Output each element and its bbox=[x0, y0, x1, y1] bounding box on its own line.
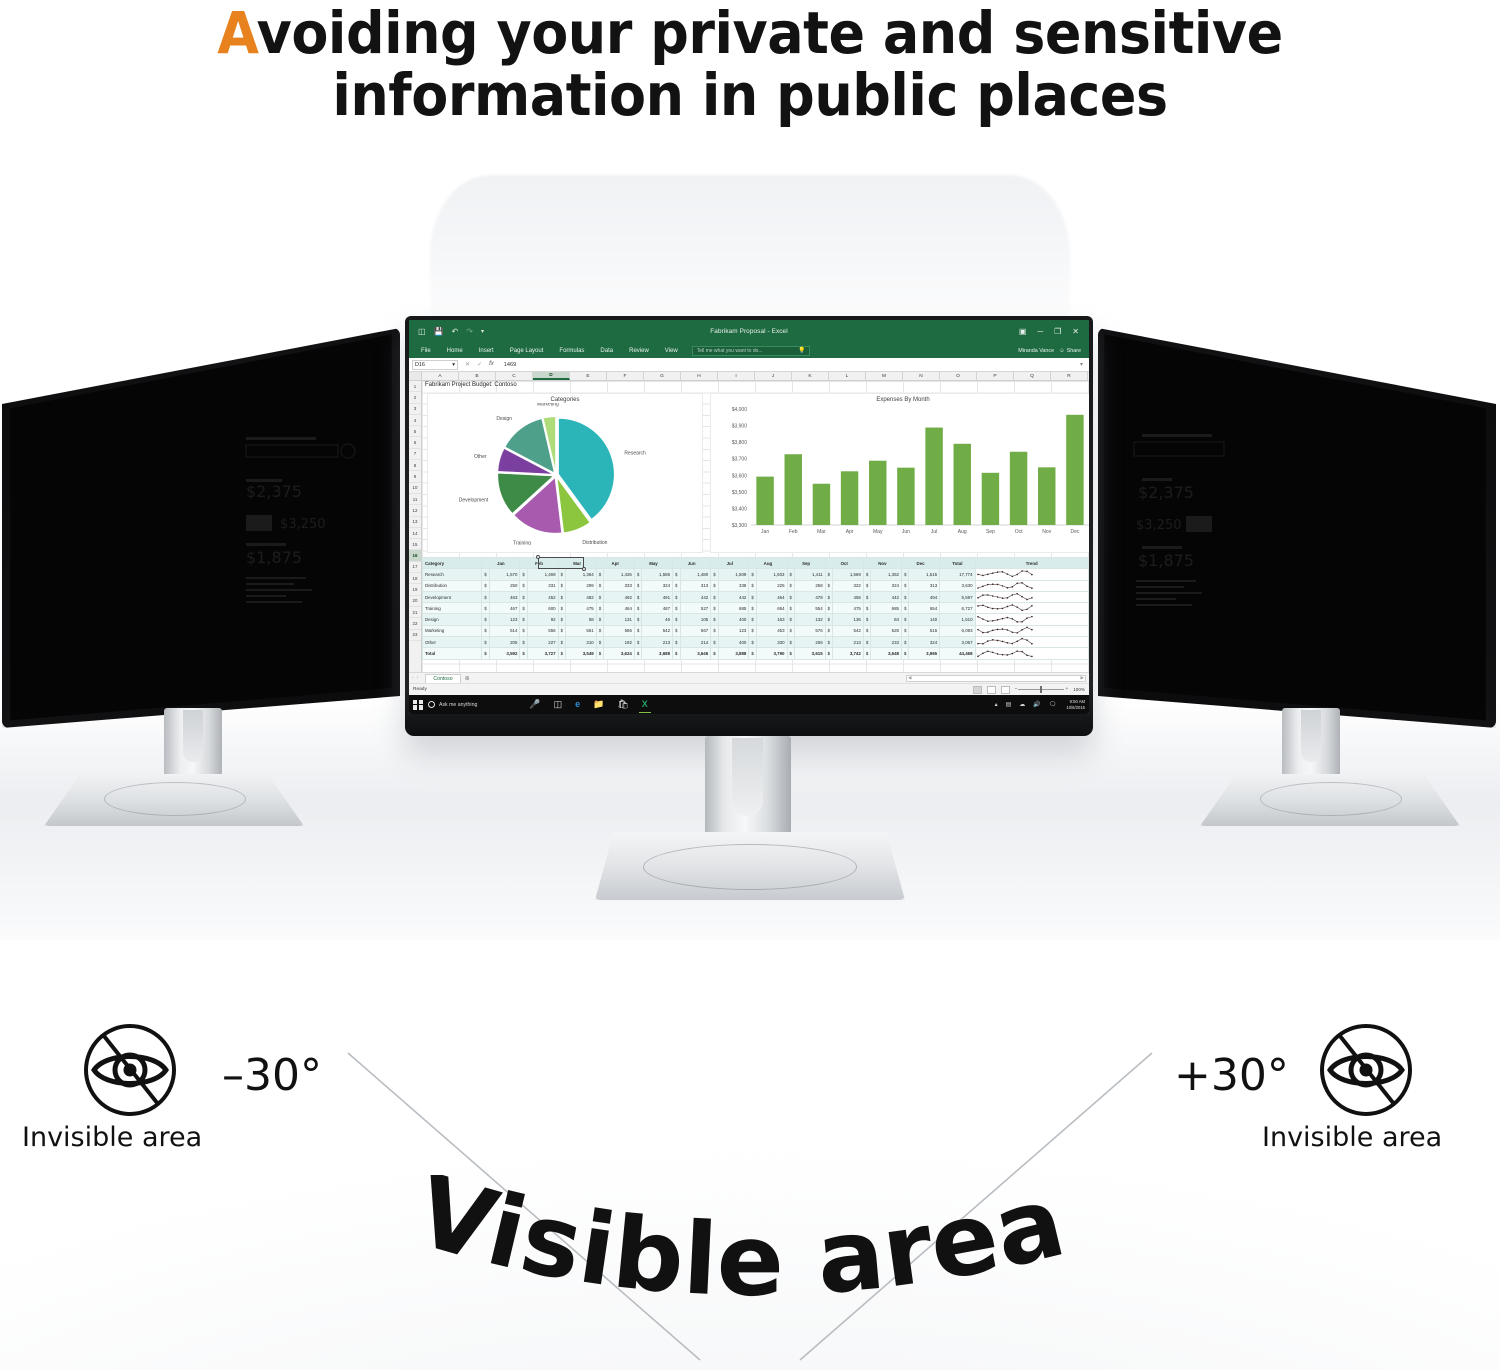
sparkline bbox=[976, 581, 1034, 590]
column-header-g[interactable]: G bbox=[644, 372, 681, 380]
budget-col-dec[interactable]: Dec bbox=[901, 558, 939, 569]
row-header-15[interactable]: 15 bbox=[409, 539, 421, 550]
budget-value-cell: 452 bbox=[527, 591, 558, 602]
sparkline bbox=[976, 592, 1034, 601]
sparkline bbox=[976, 603, 1034, 612]
bar-sep[interactable] bbox=[982, 473, 999, 525]
budget-table-row[interactable]: Development$463$452$482$492$491$442$442$… bbox=[423, 591, 1089, 602]
budget-col-apr[interactable]: Apr bbox=[596, 558, 634, 569]
undo-icon[interactable]: ↶ bbox=[452, 328, 459, 336]
currency-symbol-cell: $ bbox=[482, 603, 489, 614]
column-header-m[interactable]: M bbox=[866, 372, 903, 380]
formula-bar-content[interactable]: 1469 bbox=[501, 362, 1080, 368]
column-header-j[interactable]: J bbox=[755, 372, 792, 380]
budget-value-cell: 494 bbox=[909, 591, 940, 602]
budget-total-cell: 44,468 bbox=[940, 648, 975, 659]
normal-view-icon[interactable] bbox=[973, 686, 982, 694]
budget-value-cell: 330 bbox=[756, 637, 787, 648]
budget-value-cell: 515 bbox=[909, 625, 940, 636]
budget-col-feb[interactable]: Feb bbox=[520, 558, 558, 569]
budget-col-nov[interactable]: Nov bbox=[863, 558, 901, 569]
zoom-out-icon[interactable]: − bbox=[1015, 687, 1018, 692]
file-explorer-icon[interactable]: 📁 bbox=[593, 700, 604, 709]
svg-text:$1,875: $1,875 bbox=[246, 548, 302, 567]
row-header-7[interactable]: 7 bbox=[409, 449, 421, 460]
network-icon[interactable]: ▤ bbox=[1006, 701, 1012, 708]
bar-oct[interactable] bbox=[1010, 452, 1027, 525]
column-header-b[interactable]: B bbox=[459, 372, 496, 380]
sparkline bbox=[976, 649, 1034, 658]
currency-symbol-cell: $ bbox=[558, 625, 565, 636]
sheet-tab-bar: ‹› Contoso ⊕ ◀ ▶ bbox=[409, 672, 1089, 683]
currency-symbol-cell: $ bbox=[787, 648, 794, 659]
row-header-1[interactable]: 1 bbox=[409, 381, 421, 392]
horizontal-scrollbar[interactable]: ◀ ▶ bbox=[906, 675, 1086, 682]
budget-value-cell: 310 bbox=[566, 637, 597, 648]
currency-symbol-cell: $ bbox=[482, 648, 489, 659]
budget-value-cell: 442 bbox=[680, 591, 711, 602]
budget-value-cell: 322 bbox=[833, 580, 864, 591]
budget-category-cell: Total bbox=[423, 648, 482, 659]
currency-symbol-cell: $ bbox=[749, 580, 756, 591]
budget-table-row[interactable]: Research$1,570$1,469$1,364$1,426$1,585$1… bbox=[423, 569, 1089, 580]
tell-me-placeholder: Tell me what you want to do... bbox=[697, 348, 763, 354]
column-header-f[interactable]: F bbox=[607, 372, 644, 380]
column-header-k[interactable]: K bbox=[792, 372, 829, 380]
autosave-icon[interactable]: ◫ bbox=[418, 328, 426, 336]
budget-col-category[interactable]: Category bbox=[423, 558, 482, 569]
currency-symbol-cell: $ bbox=[863, 591, 870, 602]
budget-table-row[interactable]: Marketing$514$556$561$586$542$567$123$45… bbox=[423, 625, 1089, 636]
ribbon-tab-file[interactable]: File bbox=[413, 348, 439, 354]
headline-line-2: information in public places bbox=[53, 64, 1448, 126]
customize-quick-access-icon[interactable]: ▾ bbox=[481, 329, 484, 335]
row-header-11[interactable]: 11 bbox=[409, 494, 421, 505]
headline-line-1: Avoiding your private and sensitive bbox=[53, 2, 1448, 64]
scroll-right-arrow-icon[interactable]: ▶ bbox=[1081, 675, 1084, 681]
currency-symbol-cell: $ bbox=[825, 569, 832, 580]
budget-col-aug[interactable]: Aug bbox=[749, 558, 787, 569]
currency-symbol-cell: $ bbox=[711, 569, 718, 580]
windows-start-icon[interactable] bbox=[413, 700, 423, 710]
page-break-preview-icon[interactable] bbox=[1001, 686, 1010, 694]
currency-symbol-cell: $ bbox=[634, 603, 641, 614]
task-view-icon[interactable]: ◫ bbox=[554, 700, 563, 709]
currency-symbol-cell: $ bbox=[901, 648, 908, 659]
budget-value-cell: 463 bbox=[489, 591, 520, 602]
ribbon-display-options-icon[interactable]: ▣ bbox=[1019, 328, 1027, 336]
ribbon-tab-view[interactable]: View bbox=[657, 348, 686, 354]
bar-chart-xtick-may: May bbox=[873, 529, 883, 535]
budget-trend-cell bbox=[975, 591, 1088, 602]
currency-symbol-cell: $ bbox=[673, 603, 680, 614]
column-header-d[interactable]: D bbox=[533, 372, 570, 380]
currency-symbol-cell: $ bbox=[520, 569, 527, 580]
column-header-r[interactable]: R bbox=[1051, 372, 1088, 380]
headline-line-1-text: voiding your private and sensitive bbox=[257, 0, 1283, 67]
currency-symbol-cell: $ bbox=[634, 648, 641, 659]
confirm-entry-icon[interactable]: ✓ bbox=[477, 361, 482, 368]
budget-value-cell: 514 bbox=[489, 625, 520, 636]
currency-symbol-cell: $ bbox=[596, 603, 603, 614]
row-header-16[interactable]: 16 bbox=[409, 550, 421, 561]
row-header-10[interactable]: 10 bbox=[409, 483, 421, 494]
budget-col-jan[interactable]: Jan bbox=[482, 558, 520, 569]
budget-col-sep[interactable]: Sep bbox=[787, 558, 825, 569]
page-layout-view-icon[interactable] bbox=[987, 686, 996, 694]
budget-value-cell: 123 bbox=[718, 625, 749, 636]
sparkline bbox=[976, 615, 1034, 624]
taskbar-pinned-icons: 🎤 ◫ e 📁 🛍 X bbox=[529, 700, 647, 709]
row-header-12[interactable]: 12 bbox=[409, 505, 421, 516]
ribbon-tab-insert[interactable]: Insert bbox=[471, 348, 502, 354]
zoom-level-value[interactable]: 100% bbox=[1073, 687, 1085, 692]
sheet-nav-arrows-icon[interactable]: ‹› bbox=[412, 675, 421, 681]
budget-value-cell: 163 bbox=[756, 614, 787, 625]
share-button[interactable]: ☺ Share bbox=[1059, 348, 1081, 354]
row-header-9[interactable]: 9 bbox=[409, 471, 421, 482]
budget-value-cell: 140 bbox=[909, 614, 940, 625]
account-name[interactable]: Miranda Vance bbox=[1018, 348, 1054, 354]
budget-table-row[interactable]: Total$3,592$3,727$3,549$3,624$3,688$3,64… bbox=[423, 648, 1089, 659]
add-sheet-plus-icon[interactable]: ⊕ bbox=[465, 675, 470, 682]
taskbar-clock[interactable]: 9:50 AM 10/6/2015 bbox=[1064, 699, 1085, 710]
monitor-center-bezel: ◫ 💾 ↶ ↷ ▾ Fabrikam Proposal - Excel ▣ ─ … bbox=[405, 316, 1093, 736]
bar-jan[interactable] bbox=[756, 477, 773, 525]
store-icon[interactable]: 🛍 bbox=[617, 700, 628, 709]
currency-symbol-cell: $ bbox=[673, 591, 680, 602]
currency-symbol-cell: $ bbox=[596, 625, 603, 636]
bar-may[interactable] bbox=[869, 461, 886, 525]
budget-table-row[interactable]: Other$205$227$310$192$213$214$400$330$20… bbox=[423, 637, 1089, 648]
currency-symbol-cell: $ bbox=[596, 637, 603, 648]
budget-value-cell: 685 bbox=[718, 603, 749, 614]
budget-value-cell: 192 bbox=[604, 637, 635, 648]
column-header-o[interactable]: O bbox=[940, 372, 977, 380]
currency-symbol-cell: $ bbox=[863, 625, 870, 636]
taskbar-search-placeholder: Ask me anything bbox=[439, 702, 477, 708]
budget-value-cell: 464 bbox=[756, 591, 787, 602]
monitor-right-screen-blackedout: $2,375 $3,250 $1,875 bbox=[1102, 328, 1488, 726]
currency-symbol-cell: $ bbox=[787, 580, 794, 591]
budget-total-cell: 6,093 bbox=[940, 625, 975, 636]
bar-chart-xtick-oct: Oct bbox=[1015, 529, 1023, 535]
zoom-slider[interactable]: − + bbox=[1015, 687, 1069, 692]
row-header-18[interactable]: 18 bbox=[409, 573, 421, 584]
pie-chart-categories[interactable]: Categories ResearchDistributionTrainingD… bbox=[427, 393, 703, 553]
budget-value-cell: 442 bbox=[718, 591, 749, 602]
cancel-entry-icon[interactable]: ✕ bbox=[465, 361, 470, 368]
bar-jul[interactable] bbox=[925, 428, 942, 525]
budget-category-cell: Distribution bbox=[423, 580, 482, 591]
zoom-in-icon[interactable]: + bbox=[1065, 687, 1068, 692]
show-hidden-icons-icon[interactable]: ▴ bbox=[995, 701, 998, 708]
microphone-icon[interactable]: 🎤 bbox=[529, 700, 540, 709]
budget-category-cell: Training bbox=[423, 603, 482, 614]
bar-dec[interactable] bbox=[1066, 415, 1083, 525]
window-controls[interactable]: ▣ ─ ❐ ✕ bbox=[1019, 328, 1086, 336]
budget-value-cell: 475 bbox=[833, 603, 864, 614]
budget-value-cell: 475 bbox=[566, 603, 597, 614]
row-header-13[interactable]: 13 bbox=[409, 517, 421, 528]
currency-symbol-cell: $ bbox=[558, 614, 565, 625]
column-header-h[interactable]: H bbox=[681, 372, 718, 380]
budget-value-cell: 1,469 bbox=[527, 569, 558, 580]
backdrop-curve bbox=[430, 175, 1070, 335]
currency-symbol-cell: $ bbox=[596, 580, 603, 591]
bar-chart-xtick-sep: Sep bbox=[986, 529, 995, 535]
row-header-5[interactable]: 5 bbox=[409, 426, 421, 437]
budget-value-cell: 685 bbox=[871, 603, 902, 614]
bar-chart-expenses[interactable]: Expenses By Month $3,300$3,400$3,500$3,6… bbox=[710, 393, 1089, 553]
currency-symbol-cell: $ bbox=[863, 614, 870, 625]
minimize-button[interactable]: ─ bbox=[1037, 328, 1043, 336]
row-header-2[interactable]: 2 bbox=[409, 392, 421, 403]
restore-button[interactable]: ❐ bbox=[1054, 328, 1061, 336]
budget-col-jul[interactable]: Jul bbox=[711, 558, 749, 569]
sheet-title-cell: Fabrikam Project Budget: Contoso bbox=[425, 382, 517, 388]
svg-text:$2,375: $2,375 bbox=[1138, 483, 1194, 502]
currency-symbol-cell: $ bbox=[673, 569, 680, 580]
currency-symbol-cell: $ bbox=[825, 591, 832, 602]
zoom-slider-knob[interactable] bbox=[1040, 686, 1042, 693]
currency-symbol-cell: $ bbox=[825, 614, 832, 625]
currency-symbol-cell: $ bbox=[901, 614, 908, 625]
currency-symbol-cell: $ bbox=[558, 603, 565, 614]
currency-symbol-cell: $ bbox=[558, 648, 565, 659]
worksheet-grid: 1234567891011121314151617181920212223 Fa… bbox=[409, 381, 1089, 672]
currency-symbol-cell: $ bbox=[558, 591, 565, 602]
worksheet-cells[interactable]: Fabrikam Project Budget: Contoso Categor… bbox=[422, 381, 1089, 672]
currency-symbol-cell: $ bbox=[863, 580, 870, 591]
budget-value-cell: 299 bbox=[566, 580, 597, 591]
row-header-6[interactable]: 6 bbox=[409, 437, 421, 448]
column-header-l[interactable]: L bbox=[829, 372, 866, 380]
bar-nov[interactable] bbox=[1038, 467, 1055, 525]
column-header-n[interactable]: N bbox=[903, 372, 940, 380]
row-header-19[interactable]: 19 bbox=[409, 584, 421, 595]
currency-symbol-cell: $ bbox=[482, 637, 489, 648]
budget-table-row[interactable]: Design$123$92$58$131$46$105$400$163$132$… bbox=[423, 614, 1089, 625]
currency-symbol-cell: $ bbox=[901, 625, 908, 636]
svg-text:$2,375: $2,375 bbox=[246, 482, 302, 501]
column-header-i[interactable]: I bbox=[718, 372, 755, 380]
pie-label-training: Training bbox=[513, 540, 531, 545]
currency-symbol-cell: $ bbox=[634, 637, 641, 648]
insert-function-icon[interactable]: fx bbox=[489, 361, 494, 368]
formula-bar-row: D16 ▾ ✕ ✓ fx 1469 ▾ bbox=[409, 358, 1089, 372]
bar-apr[interactable] bbox=[841, 471, 858, 525]
budget-value-cell: 482 bbox=[566, 591, 597, 602]
row-header-22[interactable]: 22 bbox=[409, 618, 421, 629]
bar-mar[interactable] bbox=[813, 484, 830, 525]
column-header-p[interactable]: P bbox=[977, 372, 1014, 380]
budget-data-table[interactable]: CategoryJanFebMarAprMayJunJulAugSepOctNo… bbox=[422, 557, 1089, 660]
budget-col-may[interactable]: May bbox=[634, 558, 672, 569]
budget-value-cell: 1,503 bbox=[756, 569, 787, 580]
pie-label-development: Development bbox=[459, 497, 489, 503]
budget-total-cell: 1,610 bbox=[940, 614, 975, 625]
currency-symbol-cell: $ bbox=[749, 591, 756, 602]
budget-value-cell: 1,585 bbox=[642, 569, 673, 580]
ribbon-tab-review[interactable]: Review bbox=[621, 348, 657, 354]
currency-symbol-cell: $ bbox=[901, 580, 908, 591]
bar-chart-xtick-nov: Nov bbox=[1042, 529, 1051, 535]
budget-value-cell: 491 bbox=[642, 591, 673, 602]
ribbon-tab-home[interactable]: Home bbox=[439, 348, 471, 354]
currency-symbol-cell: $ bbox=[711, 625, 718, 636]
budget-category-cell: Research bbox=[423, 569, 482, 580]
budget-col-total[interactable]: Total bbox=[940, 558, 975, 569]
tell-me-search-box[interactable]: Tell me what you want to do... 💡 bbox=[692, 346, 810, 356]
budget-value-cell: 527 bbox=[680, 603, 711, 614]
currency-symbol-cell: $ bbox=[673, 637, 680, 648]
column-header-q[interactable]: Q bbox=[1014, 372, 1051, 380]
currency-symbol-cell: $ bbox=[673, 580, 680, 591]
budget-col-jun[interactable]: Jun bbox=[673, 558, 711, 569]
budget-value-cell: 3,615 bbox=[794, 648, 825, 659]
budget-value-cell: 1,426 bbox=[604, 569, 635, 580]
taskbar-search-box[interactable]: Ask me anything bbox=[428, 701, 477, 708]
budget-value-cell: 324 bbox=[642, 580, 673, 591]
budget-value-cell: 333 bbox=[604, 580, 635, 591]
currency-symbol-cell: $ bbox=[825, 637, 832, 648]
currency-symbol-cell: $ bbox=[749, 625, 756, 636]
budget-total-cell: 6,727 bbox=[940, 603, 975, 614]
budget-col-mar[interactable]: Mar bbox=[558, 558, 596, 569]
name-box-chevron-down-icon[interactable]: ▾ bbox=[452, 362, 455, 368]
headline-accent-letter: A bbox=[217, 0, 256, 67]
budget-value-cell: 213 bbox=[642, 637, 673, 648]
budget-value-cell: 92 bbox=[527, 614, 558, 625]
column-header-a[interactable]: A bbox=[422, 372, 459, 380]
redo-icon[interactable]: ↷ bbox=[466, 328, 473, 336]
budget-value-cell: 1,569 bbox=[833, 569, 864, 580]
zoom-slider-track[interactable] bbox=[1018, 689, 1064, 690]
budget-value-cell: 464 bbox=[604, 603, 635, 614]
budget-value-cell: 586 bbox=[604, 625, 635, 636]
currency-symbol-cell: $ bbox=[596, 591, 603, 602]
budget-table-row[interactable]: Distribution$250$331$299$333$324$313$338… bbox=[423, 580, 1089, 591]
currency-symbol-cell: $ bbox=[787, 637, 794, 648]
budget-value-cell: 556 bbox=[527, 625, 558, 636]
excel-icon[interactable]: X bbox=[642, 700, 648, 709]
currency-symbol-cell: $ bbox=[749, 637, 756, 648]
bar-chart-xtick-aug: Aug bbox=[958, 529, 967, 535]
budget-value-cell: 105 bbox=[680, 614, 711, 625]
pie-chart-title: Categories bbox=[428, 394, 702, 403]
bar-jun[interactable] bbox=[897, 468, 914, 525]
svg-text:$3,250: $3,250 bbox=[1136, 518, 1182, 533]
ribbon-tab-page-layout[interactable]: Page Layout bbox=[502, 348, 552, 354]
budget-col-oct[interactable]: Oct bbox=[825, 558, 863, 569]
bar-chart-xtick-mar: Mar bbox=[817, 529, 826, 535]
budget-value-cell: 467 bbox=[489, 603, 520, 614]
pie-label-design: Design bbox=[496, 416, 512, 422]
budget-value-cell: 654 bbox=[909, 603, 940, 614]
ribbon-tab-formulas[interactable]: Formulas bbox=[551, 348, 592, 354]
currency-symbol-cell: $ bbox=[787, 614, 794, 625]
row-header-17[interactable]: 17 bbox=[409, 562, 421, 573]
row-header-14[interactable]: 14 bbox=[409, 528, 421, 539]
monitor-left-screen-blackedout: $2,375 $3,250 $1,875 bbox=[8, 328, 394, 726]
select-all-corner[interactable] bbox=[409, 372, 422, 380]
budget-trend-cell bbox=[975, 569, 1088, 580]
pie-chart-svg: ResearchDistributionTrainingDevelopmentO… bbox=[428, 403, 704, 545]
bar-aug[interactable] bbox=[954, 444, 971, 525]
currency-symbol-cell: $ bbox=[863, 637, 870, 648]
lightbulb-icon: 💡 bbox=[798, 347, 805, 354]
currency-symbol-cell: $ bbox=[901, 603, 908, 614]
column-header-c[interactable]: C bbox=[496, 372, 533, 380]
budget-value-cell: 3,549 bbox=[566, 648, 597, 659]
quick-access-toolbar[interactable]: ◫ 💾 ↶ ↷ ▾ bbox=[412, 328, 484, 336]
currency-symbol-cell: $ bbox=[711, 591, 718, 602]
currency-symbol-cell: $ bbox=[711, 648, 718, 659]
svg-text:$3,250: $3,250 bbox=[280, 517, 326, 532]
excel-ribbon-tab-bar: File Home Insert Page Layout Formulas Da… bbox=[409, 343, 1089, 358]
close-button[interactable]: ✕ bbox=[1072, 328, 1079, 336]
bar-feb[interactable] bbox=[785, 454, 802, 525]
currency-symbol-cell: $ bbox=[634, 591, 641, 602]
status-bar-right: − + 100% bbox=[973, 686, 1085, 694]
action-center-icon[interactable]: 🗨 bbox=[1049, 701, 1057, 708]
currency-symbol-cell: $ bbox=[825, 603, 832, 614]
currency-symbol-cell: $ bbox=[520, 648, 527, 659]
excel-application-window: ◫ 💾 ↶ ↷ ▾ Fabrikam Proposal - Excel ▣ ─ … bbox=[409, 320, 1089, 714]
currency-symbol-cell: $ bbox=[634, 580, 641, 591]
row-header-8[interactable]: 8 bbox=[409, 460, 421, 471]
scroll-left-arrow-icon[interactable]: ◀ bbox=[908, 675, 911, 681]
budget-category-cell: Development bbox=[423, 591, 482, 602]
budget-trend-cell bbox=[975, 625, 1088, 636]
budget-table-row[interactable]: Training$467$600$475$464$487$527$685$654… bbox=[423, 603, 1089, 614]
budget-category-cell: Marketing bbox=[423, 625, 482, 636]
budget-col-trend[interactable]: Trend bbox=[975, 558, 1088, 569]
expand-formula-bar-icon[interactable]: ▾ bbox=[1080, 361, 1086, 368]
currency-symbol-cell: $ bbox=[749, 603, 756, 614]
row-header-23[interactable]: 23 bbox=[409, 630, 421, 641]
sheet-tab-contoso[interactable]: Contoso bbox=[425, 674, 460, 683]
budget-value-cell: 131 bbox=[604, 614, 635, 625]
budget-value-cell: 3,965 bbox=[909, 648, 940, 659]
column-header-e[interactable]: E bbox=[570, 372, 607, 380]
currency-symbol-cell: $ bbox=[634, 625, 641, 636]
budget-value-cell: 258 bbox=[794, 580, 825, 591]
budget-value-cell: 250 bbox=[489, 580, 520, 591]
budget-value-cell: 213 bbox=[833, 637, 864, 648]
budget-total-cell: 3,067 bbox=[940, 637, 975, 648]
edge-browser-icon[interactable]: e bbox=[575, 700, 580, 709]
budget-value-cell: 136 bbox=[833, 614, 864, 625]
row-header-3[interactable]: 3 bbox=[409, 404, 421, 415]
currency-symbol-cell: $ bbox=[673, 648, 680, 659]
ribbon-tab-data[interactable]: Data bbox=[592, 348, 621, 354]
row-header-20[interactable]: 20 bbox=[409, 596, 421, 607]
budget-value-cell: 453 bbox=[756, 625, 787, 636]
row-header-4[interactable]: 4 bbox=[409, 415, 421, 426]
volume-icon[interactable]: 🔊 bbox=[1033, 701, 1040, 708]
currency-symbol-cell: $ bbox=[825, 625, 832, 636]
budget-table-head: CategoryJanFebMarAprMayJunJulAugSepOctNo… bbox=[423, 558, 1089, 569]
name-box[interactable]: D16 ▾ bbox=[412, 360, 458, 370]
onedrive-icon[interactable]: ☁ bbox=[1019, 701, 1025, 708]
currency-symbol-cell: $ bbox=[901, 569, 908, 580]
save-icon[interactable]: 💾 bbox=[434, 328, 444, 336]
budget-value-cell: 313 bbox=[680, 580, 711, 591]
budget-trend-cell bbox=[975, 614, 1088, 625]
row-header-21[interactable]: 21 bbox=[409, 607, 421, 618]
